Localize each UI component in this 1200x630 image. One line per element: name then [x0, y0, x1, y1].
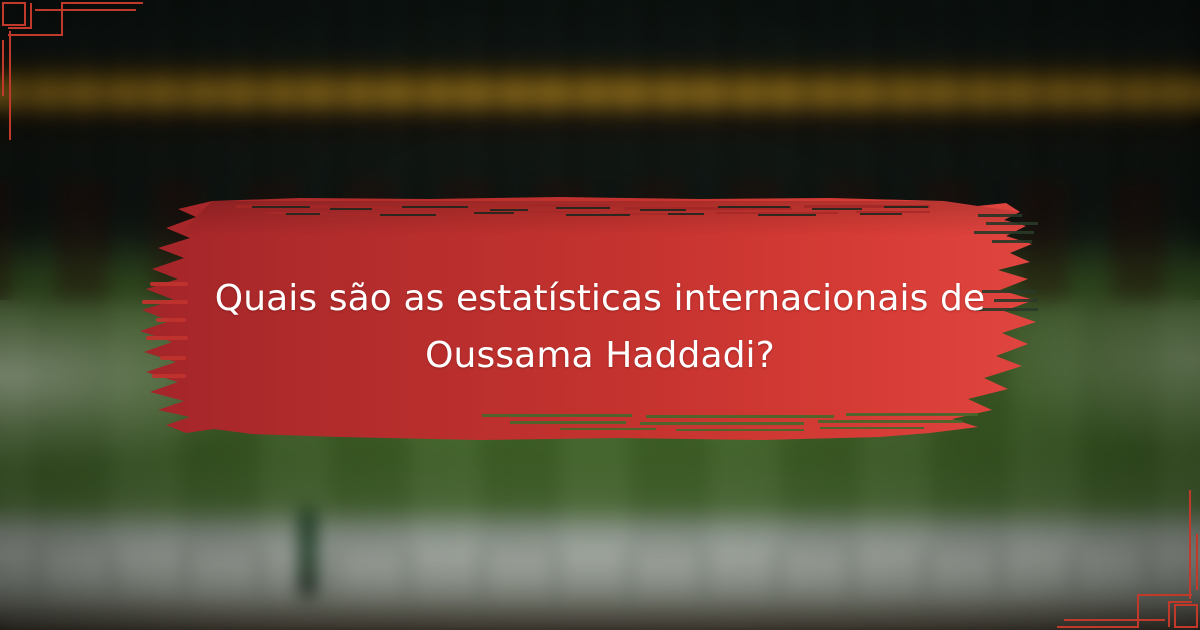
page-title: Quais são as estatísticas internacionais… — [190, 270, 1010, 384]
share-card: Quais são as estatísticas internacionais… — [0, 0, 1200, 630]
headline-line-1: Quais são as estatísticas internacionais… — [190, 270, 1010, 327]
headline-line-2: Oussama Haddadi? — [190, 327, 1010, 384]
